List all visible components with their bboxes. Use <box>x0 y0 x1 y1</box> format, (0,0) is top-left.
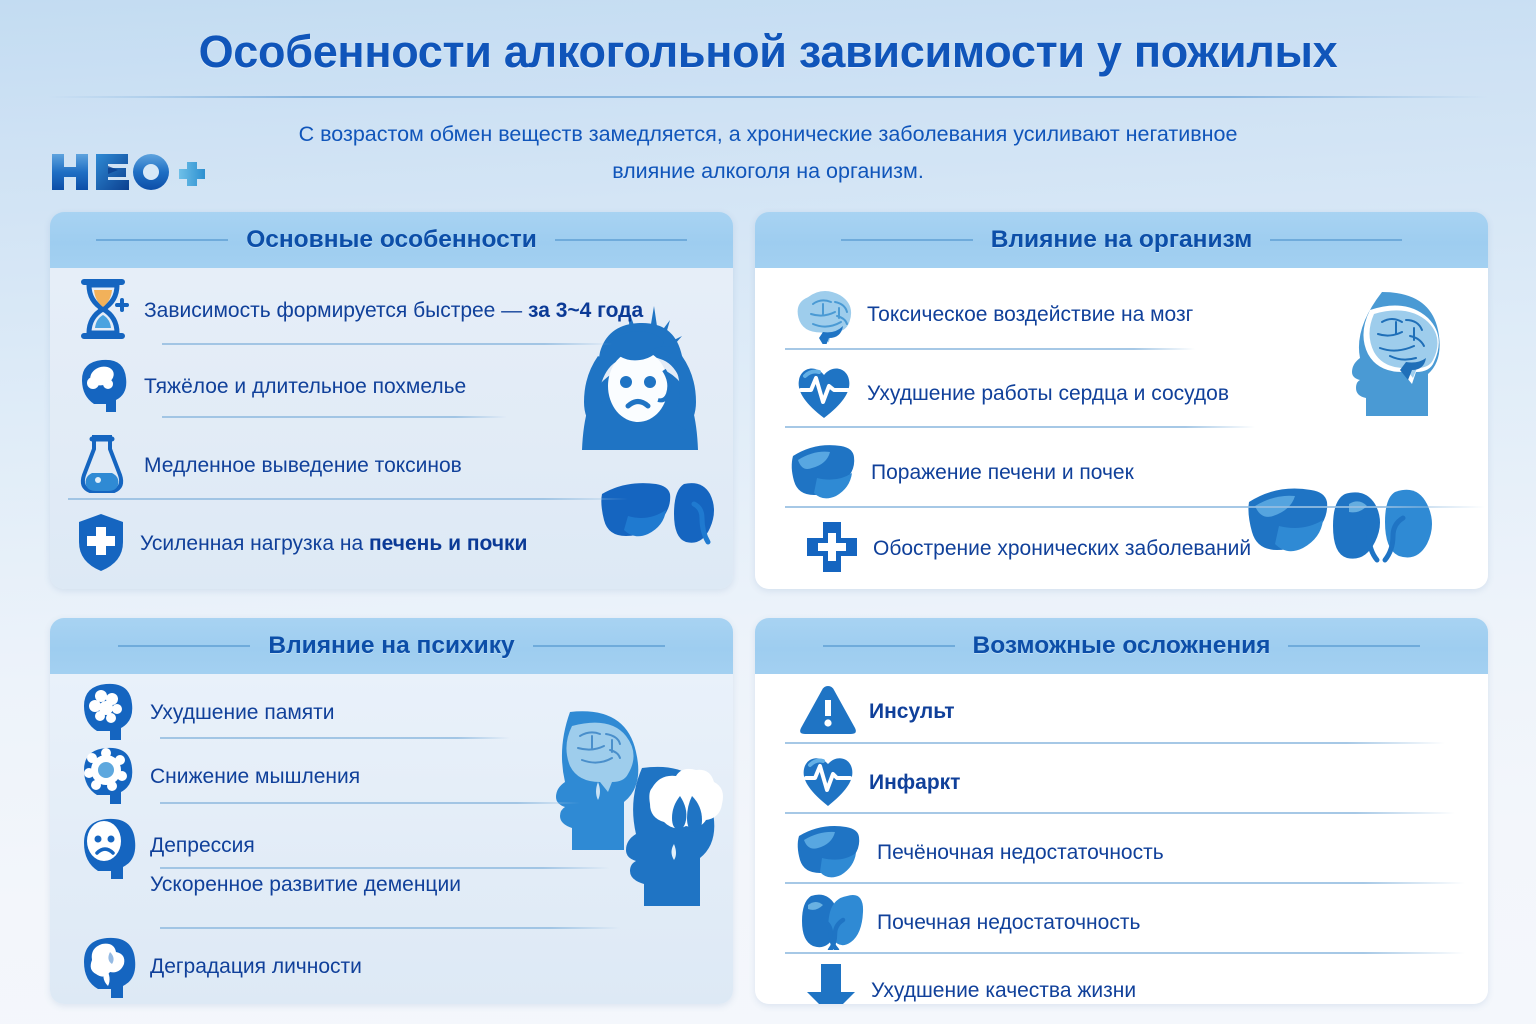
row-divider <box>162 416 507 418</box>
head-dementia-icon <box>76 885 138 886</box>
list-item[interactable]: Медленное выведение токсинов <box>74 433 462 500</box>
row-divider <box>785 506 1485 508</box>
list-item[interactable]: Деградация личности <box>76 932 362 1003</box>
list-item[interactable]: Усиленная нагрузка на печень и почки <box>74 511 527 578</box>
row-divider <box>785 742 1445 744</box>
shield-cross-icon <box>74 511 128 578</box>
card-title: Основные особенности <box>246 226 537 254</box>
liver-kidneys-illustration <box>1245 480 1465 577</box>
kidneys-icon <box>795 892 865 955</box>
list-item[interactable]: Тяжёлое и длительное похмелье <box>74 356 466 419</box>
row-divider <box>785 426 1255 428</box>
head-sad-face-icon <box>76 809 138 884</box>
brain-icon <box>793 282 855 349</box>
list-item-label: Тяжёлое и длительное похмелье <box>144 376 466 398</box>
header-rule-right <box>533 645 665 647</box>
card-vliyanie-na-organizm: Влияние на организм <box>755 212 1488 589</box>
list-item[interactable]: Токсическое воздействие на мозг <box>793 282 1193 349</box>
header-rule-right <box>1270 239 1402 241</box>
medical-cross-icon <box>803 518 861 581</box>
list-item-label: Ухудшение качества жизни <box>871 980 1136 1002</box>
list-item-label: Обострение хронических заболеваний <box>873 538 1251 560</box>
card-header: Основные особенности <box>50 212 733 268</box>
card-title: Влияние на организм <box>991 226 1252 254</box>
card-header: Влияние на психику <box>50 618 733 674</box>
list-item-label: Зависимость формируется быстрее — за 3~4… <box>144 300 643 322</box>
card-vliyanie-na-psihiku: Влияние на психику <box>50 618 733 1004</box>
list-item-label: Медленное выведение токсинов <box>144 455 462 477</box>
warning-triangle-icon <box>799 682 857 743</box>
list-item-label: Снижение мышления <box>150 766 360 788</box>
list-item[interactable]: Почечная недостаточность <box>795 892 1140 955</box>
heart-pulse-icon <box>799 752 857 815</box>
list-item-label: Депрессия <box>150 835 255 857</box>
card-body: Зависимость формируется быстрее — за 3~4… <box>50 268 733 589</box>
page-subtitle: С возрастом обмен веществ замедляется, а… <box>268 116 1268 190</box>
head-memory-icon <box>76 680 138 747</box>
row-divider <box>785 952 1465 954</box>
hourglass-icon <box>74 278 132 345</box>
card-header: Возможные осложнения <box>755 618 1488 674</box>
heart-pulse-icon <box>793 362 855 427</box>
head-pills-icon <box>74 356 132 419</box>
head-brain-illustration <box>1310 286 1470 441</box>
row-divider <box>785 882 1465 884</box>
title-divider <box>48 96 1488 98</box>
row-divider <box>785 812 1455 814</box>
card-body: Инсульт Инфаркт Печёночная <box>755 674 1488 1004</box>
liver-icon <box>795 822 865 885</box>
neo-plus-logo <box>48 148 208 196</box>
header-rule-left <box>118 645 250 647</box>
row-divider <box>160 737 510 739</box>
header-rule-left <box>841 239 973 241</box>
head-degradation-icon <box>76 932 138 1003</box>
row-divider <box>160 867 610 869</box>
row-divider <box>68 498 628 500</box>
list-item-label: Печёночная недостаточность <box>877 842 1164 864</box>
list-item[interactable]: Снижение мышления <box>76 744 360 811</box>
card-body: Ухудшение памяти Снижение мышления <box>50 674 733 1004</box>
list-item[interactable]: Инсульт <box>799 682 955 743</box>
liver-kidney-illustration <box>598 476 728 559</box>
list-item[interactable]: Ухудшение работы сердца и сосудов <box>793 362 1229 427</box>
card-title: Возможные осложнения <box>973 632 1271 660</box>
row-divider <box>785 348 1195 350</box>
list-item-label: Почечная недостаточность <box>877 912 1140 934</box>
head-gear-icon <box>76 744 138 811</box>
list-item-label: Усиленная нагрузка на печень и почки <box>140 533 527 555</box>
card-body: Токсическое воздействие на мозг Ухудшени… <box>755 268 1488 589</box>
row-divider <box>162 343 612 345</box>
two-heads-brain-illustration <box>510 704 730 914</box>
flask-icon <box>74 433 132 500</box>
list-item-label: Инсульт <box>869 701 955 723</box>
list-item[interactable]: Обострение хронических заболеваний <box>803 518 1251 581</box>
card-osnovnye-osobennosti: Основные особенности <box>50 212 733 589</box>
row-divider <box>160 802 580 804</box>
card-vozmozhnye-oslozhneniya: Возможные осложнения Инсульт <box>755 618 1488 1004</box>
list-item-label: Ухудшение работы сердца и сосудов <box>867 383 1229 405</box>
header-rule-right <box>555 239 687 241</box>
list-item-label: Поражение печени и почек <box>871 462 1134 484</box>
list-item-label: Ухудшение памяти <box>150 702 335 724</box>
list-item[interactable]: Инфаркт <box>799 752 960 815</box>
list-item-label: Ускоренное развитие деменции <box>150 874 461 896</box>
list-item[interactable]: Печёночная недостаточность <box>795 822 1164 885</box>
list-item-label: Деградация личности <box>150 956 362 978</box>
list-item-label: Инфаркт <box>869 772 960 794</box>
page-header: Особенности алкогольной зависимости у по… <box>0 0 1536 200</box>
card-title: Влияние на психику <box>268 632 514 660</box>
header-rule-right <box>1288 645 1420 647</box>
header-rule-left <box>96 239 228 241</box>
card-header: Влияние на организм <box>755 212 1488 268</box>
row-divider <box>160 927 620 929</box>
header-rule-left <box>823 645 955 647</box>
list-item[interactable]: Поражение печени и почек <box>789 440 1134 507</box>
list-item[interactable]: Зависимость формируется быстрее — за 3~4… <box>74 278 643 345</box>
list-item[interactable]: Ускоренное развитие деменции <box>76 874 461 896</box>
down-arrow-icon <box>803 960 859 1004</box>
liver-icon <box>789 440 859 507</box>
list-item[interactable]: Ухудшение качества жизни <box>803 960 1136 1004</box>
list-item-label: Токсическое воздействие на мозг <box>867 304 1193 326</box>
page-title: Особенности алкогольной зависимости у по… <box>0 26 1536 78</box>
